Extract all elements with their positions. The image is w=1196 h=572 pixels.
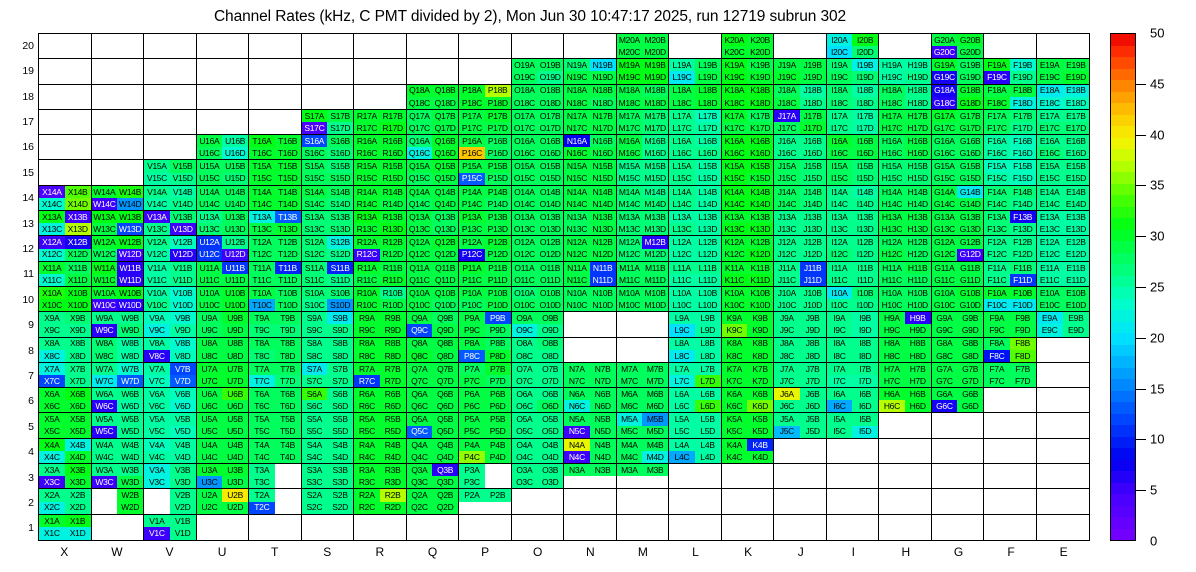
channel-n16a: N16A <box>564 135 590 147</box>
channel-j14a: J14A <box>774 186 800 198</box>
channel-k10c: K10C <box>722 299 748 311</box>
grid-cell-x13: X13AX13BX13CX13D <box>39 211 92 236</box>
channel-p13a: P13A <box>459 211 485 223</box>
channel-u8b: U8B <box>222 338 248 350</box>
grid-cell-j5: J5AJ5BJ5CJ5D <box>774 413 827 438</box>
channel-k7a: K7A <box>722 363 748 375</box>
channel-t13b: T13B <box>275 211 301 223</box>
channel-k20a: K20A <box>722 34 748 46</box>
grid-cell-t11: T11AT11BT11CT11D <box>249 262 302 287</box>
channel-p7d: P7D <box>485 375 511 387</box>
grid-cell-o6: O6AO6BO6CO6D <box>512 388 565 413</box>
channel-j7c: J7C <box>774 375 800 387</box>
grid-cell-k19: K19AK19BK19CK19D <box>722 59 775 84</box>
channel-i5c: I5C <box>827 426 853 438</box>
channel-o18d: O18D <box>537 97 563 109</box>
channel-p3a: P3A <box>459 464 485 476</box>
channel-r4c: R4C <box>354 451 380 463</box>
channel-p10a: P10A <box>459 287 485 299</box>
channel-rate-map-canvas: Channel Rates (kHz, C PMT divided by 2),… <box>0 0 1196 572</box>
x-axis-tick-t: T <box>248 545 301 565</box>
channel-h17b: H17B <box>905 110 931 122</box>
channel-v11b: V11B <box>170 262 196 274</box>
channel-f19b: F19B <box>1010 59 1036 71</box>
channel-k14c: K14C <box>722 198 748 210</box>
channel-g6b: G6B <box>957 388 983 400</box>
grid-cell-k20: K20AK20BK20CK20D <box>722 34 775 59</box>
x-axis-tick-x: X <box>38 545 91 565</box>
channel-l9c: L9C <box>669 324 695 336</box>
channel-r16b: R16B <box>380 135 406 147</box>
channel-m5a: M5A <box>617 413 643 425</box>
channel-x6b: X6B <box>65 388 91 400</box>
grid-cell-f4 <box>984 439 1037 464</box>
channel-w10c: W10C <box>92 299 118 311</box>
grid-cell-n6: N6AN6BN6CN6D <box>564 388 617 413</box>
channel-r5d: R5D <box>380 426 406 438</box>
grid-cell-e6 <box>1037 388 1090 413</box>
channel-u10c: U10C <box>197 299 223 311</box>
channel-x14c: X14C <box>39 198 65 210</box>
channel-l14b: L14B <box>695 186 721 198</box>
grid-cell-f19: F19AF19BF19CF19D <box>984 59 1037 84</box>
channel-g18a: G18A <box>932 85 958 97</box>
channel-p16d: P16D <box>485 147 511 159</box>
grid-cell-t1 <box>249 515 302 540</box>
grid-cell-w13: W13AW13BW13CW13D <box>92 211 145 236</box>
grid-cell-q9: Q9AQ9BQ9CQ9D <box>407 312 460 337</box>
channel-s2d: S2D <box>327 502 353 514</box>
channel-v4b: V4B <box>170 439 196 451</box>
channel-e13d: E13D <box>1063 223 1089 235</box>
channel-t11d: T11D <box>275 274 301 286</box>
channel-x8c: X8C <box>39 350 65 362</box>
channel-x5d: X5D <box>65 426 91 438</box>
channel-h10d: H10D <box>905 299 931 311</box>
channel-o12d: O12D <box>537 249 563 261</box>
grid-cell-o16: O16AO16BO16CO16D <box>512 135 565 160</box>
channel-m7d: M7D <box>642 375 668 387</box>
channel-w9b: W9B <box>117 312 143 324</box>
grid-cell-o4: O4AO4BO4CO4D <box>512 439 565 464</box>
channel-m16a: M16A <box>617 135 643 147</box>
channel-h8d: H8D <box>905 350 931 362</box>
channel-n16c: N16C <box>564 147 590 159</box>
channel-r4a: R4A <box>354 439 380 451</box>
channel-g18c: G18C <box>932 97 958 109</box>
grid-cell-q16: Q16AQ16BQ16CQ16D <box>407 135 460 160</box>
channel-r14b: R14B <box>380 186 406 198</box>
channel-i19c: I19C <box>827 71 853 83</box>
grid-cell-j16: J16AJ16BJ16CJ16D <box>774 135 827 160</box>
channel-i14c: I14C <box>827 198 853 210</box>
channel-v5c: V5C <box>144 426 170 438</box>
channel-i16c: I16C <box>827 147 853 159</box>
channel-i10d: I10D <box>852 299 878 311</box>
channel-p12b: P12B <box>485 236 511 248</box>
channel-s3a: S3A <box>302 464 328 476</box>
channel-p14d: P14D <box>485 198 511 210</box>
channel-w13c: W13C <box>92 223 118 235</box>
channel-p15c: P15C <box>459 173 485 185</box>
channel-g8d: G8D <box>957 350 983 362</box>
grid-cell-e3 <box>1037 464 1090 489</box>
channel-s14b: S14B <box>327 186 353 198</box>
channel-q11b: Q11B <box>432 262 458 274</box>
grid-cell-l3 <box>669 464 722 489</box>
grid-cell-h12: H12AH12BH12CH12D <box>879 236 932 261</box>
grid-cell-i3 <box>827 464 880 489</box>
channel-s11a: S11A <box>302 262 328 274</box>
channel-r4d: R4D <box>380 451 406 463</box>
grid-cell-v20 <box>144 34 197 59</box>
grid-cell-g3 <box>932 464 985 489</box>
channel-j16c: J16C <box>774 147 800 159</box>
channel-h9a: H9A <box>879 312 905 324</box>
channel-l12a: L12A <box>669 236 695 248</box>
channel-i12d: I12D <box>852 249 878 261</box>
channel-f18a: F18A <box>984 85 1010 97</box>
channel-v12b: V12B <box>170 236 196 248</box>
channel-j11b: J11B <box>800 262 826 274</box>
channel-e16b: E16B <box>1063 135 1089 147</box>
channel-v10d: V10D <box>170 299 196 311</box>
grid-cell-x17 <box>39 110 92 135</box>
channel-v13d: V13D <box>170 223 196 235</box>
channel-t9d: T9D <box>275 324 301 336</box>
channel-q12d: Q12D <box>432 249 458 261</box>
grid-cell-f9: F9AF9BF9CF9D <box>984 312 1037 337</box>
channel-m11b: M11B <box>642 262 668 274</box>
channel-t5d: T5D <box>275 426 301 438</box>
channel-j5c: J5C <box>774 426 800 438</box>
channel-u9a: U9A <box>197 312 223 324</box>
channel-q15d: Q15D <box>432 173 458 185</box>
channel-s9a: S9A <box>302 312 328 324</box>
grid-cell-r3: R3AR3BR3CR3D <box>354 464 407 489</box>
grid-cell-i7: I7AI7BI7CI7D <box>827 363 880 388</box>
channel-m7b: M7B <box>642 363 668 375</box>
channel-h6a: H6A <box>879 388 905 400</box>
channel-f12d: F12D <box>1010 249 1036 261</box>
channel-h8c: H8C <box>879 350 905 362</box>
channel-m10d: M10D <box>642 299 668 311</box>
channel-r7b: R7B <box>380 363 406 375</box>
channel-j13b: J13B <box>800 211 826 223</box>
grid-cell-w4: W4AW4BW4CW4D <box>92 439 145 464</box>
channel-v10b: V10B <box>170 287 196 299</box>
channel-m5d: M5D <box>642 426 668 438</box>
channel-p4d: P4D <box>485 451 511 463</box>
channel-i7d: I7D <box>852 375 878 387</box>
channel-j12a: J12A <box>774 236 800 248</box>
channel-w4b: W4B <box>117 439 143 451</box>
grid-cell-k7: K7AK7BK7CK7D <box>722 363 775 388</box>
channel-i6c: I6C <box>827 400 853 412</box>
channel-w2d: W2D <box>117 502 143 514</box>
grid-cell-p12: P12AP12BP12CP12D <box>459 236 512 261</box>
channel-o3a: O3A <box>512 464 538 476</box>
channel-x8a: X8A <box>39 338 65 350</box>
grid-cell-o20 <box>512 34 565 59</box>
grid-cell-s4: S4AS4BS4CS4D <box>302 439 355 464</box>
channel-r10d: R10D <box>380 299 406 311</box>
grid-cell-x5: X5AX5BX5CX5D <box>39 413 92 438</box>
channel-f17b: F17B <box>1010 110 1036 122</box>
channel-k11d: K11D <box>747 274 773 286</box>
y-axis-tick-3: 3 <box>8 472 34 484</box>
channel-q10c: Q10C <box>407 299 433 311</box>
channel-v13c: V13C <box>144 223 170 235</box>
channel-j10c: J10C <box>774 299 800 311</box>
channel-r13d: R13D <box>380 223 406 235</box>
channel-l15d: L15D <box>695 173 721 185</box>
channel-e9c: E9C <box>1037 324 1063 336</box>
channel-t10c: T10C <box>249 299 275 311</box>
channel-g14d: G14D <box>957 198 983 210</box>
channel-s12a: S12A <box>302 236 328 248</box>
channel-e12c: E12C <box>1037 249 1063 261</box>
channel-f11a: F11A <box>984 262 1010 274</box>
y-axis-tick-6: 6 <box>8 395 34 407</box>
channel-w9d: W9D <box>117 324 143 336</box>
grid-cell-l11: L11AL11BL11CL11D <box>669 262 722 287</box>
grid-cell-w7: W7AW7BW7CW7D <box>92 363 145 388</box>
channel-s11b: S11B <box>327 262 353 274</box>
grid-cell-m18: M18AM18BM18CM18D <box>617 85 670 110</box>
channel-u8c: U8C <box>197 350 223 362</box>
grid-cell-p15: P15AP15BP15CP15D <box>459 160 512 185</box>
channel-t13d: T13D <box>275 223 301 235</box>
grid-cell-v8: V8AV8BV8CV8D <box>144 338 197 363</box>
grid-cell-i18: I18AI18BI18CI18D <box>827 85 880 110</box>
channel-o9c: O9C <box>512 324 538 336</box>
grid-cell-l12: L12AL12BL12CL12D <box>669 236 722 261</box>
palette-tick-label-35: 35 <box>1150 178 1164 193</box>
channel-q8b: Q8B <box>432 338 458 350</box>
grid-cell-f8: F8AF8BF8CF8D <box>984 338 1037 363</box>
x-axis-tick-m: M <box>617 545 670 565</box>
grid-cell-v17 <box>144 110 197 135</box>
grid-cell-h15: H15AH15BH15CH15D <box>879 160 932 185</box>
channel-x8d: X8D <box>65 350 91 362</box>
channel-w4d: W4D <box>117 451 143 463</box>
grid-cell-t2: T2AT2C <box>249 489 302 514</box>
grid-cell-o3: O3AO3BO3CO3D <box>512 464 565 489</box>
channel-e19d: E19D <box>1063 71 1089 83</box>
channel-q16d: Q16D <box>432 147 458 159</box>
grid-cell-s20 <box>302 34 355 59</box>
channel-t15c: T15C <box>249 173 275 185</box>
grid-cell-r17: R17AR17BR17CR17D <box>354 110 407 135</box>
channel-h16b: H16B <box>905 135 931 147</box>
channel-p5d: P5D <box>485 426 511 438</box>
channel-s17a: S17A <box>302 110 328 122</box>
grid-cell-i2 <box>827 489 880 514</box>
channel-m16d: M16D <box>642 147 668 159</box>
channel-j13c: J13C <box>774 223 800 235</box>
channel-h11d: H11D <box>905 274 931 286</box>
channel-m16c: M16C <box>617 147 643 159</box>
channel-s7a: S7A <box>302 363 328 375</box>
grid-cell-x7: X7AX7BX7CX7D <box>39 363 92 388</box>
channel-q9a: Q9A <box>407 312 433 324</box>
channel-e17d: E17D <box>1063 122 1089 134</box>
grid-cell-x10: X10AX10BX10CX10D <box>39 287 92 312</box>
grid-cell-h11: H11AH11BH11CH11D <box>879 262 932 287</box>
channel-x14d: X14D <box>65 198 91 210</box>
channel-t9b: T9B <box>275 312 301 324</box>
channel-g8a: G8A <box>932 338 958 350</box>
grid-cell-w2: W2BW2D <box>92 489 145 514</box>
grid-cell-f7: F7AF7BF7CF7D <box>984 363 1037 388</box>
channel-p11a: P11A <box>459 262 485 274</box>
channel-v15c: V15C <box>144 173 170 185</box>
channel-v9a: V9A <box>144 312 170 324</box>
channel-u4d: U4D <box>222 451 248 463</box>
grid-cell-n15: N15AN15BN15CN15D <box>564 160 617 185</box>
grid-cell-u4: U4AU4BU4CU4D <box>197 439 250 464</box>
channel-x9d: X9D <box>65 324 91 336</box>
grid-cell-k8: K8AK8BK8CK8D <box>722 338 775 363</box>
channel-h19c: H19C <box>879 71 905 83</box>
grid-cell-q11: Q11AQ11BQ11CQ11D <box>407 262 460 287</box>
grid-cell-e2 <box>1037 489 1090 514</box>
page-title: Channel Rates (kHz, C PMT divided by 2),… <box>0 8 1060 26</box>
channel-g19b: G19B <box>957 59 983 71</box>
channel-p6d: P6D <box>485 400 511 412</box>
grid-cell-p8: P8AP8BP8CP8D <box>459 338 512 363</box>
grid-cell-o15: O15AO15BO15CO15D <box>512 160 565 185</box>
grid-cell-l13: L13AL13BL13CL13D <box>669 211 722 236</box>
channel-w7d: W7D <box>117 375 143 387</box>
channel-t6b: T6B <box>275 388 301 400</box>
grid-cell-t13: T13AT13BT13CT13D <box>249 211 302 236</box>
grid-cell-h3 <box>879 464 932 489</box>
channel-o3c: O3C <box>512 476 538 488</box>
channel-i10a: I10A <box>827 287 853 299</box>
grid-cell-h17: H17AH17BH17CH17D <box>879 110 932 135</box>
grid-cell-j14: J14AJ14BJ14CJ14D <box>774 186 827 211</box>
channel-l5a: L5A <box>669 413 695 425</box>
channel-m19d: M19D <box>642 71 668 83</box>
channel-f14b: F14B <box>1010 186 1036 198</box>
channel-r7a: R7A <box>354 363 380 375</box>
channel-p8c: P8C <box>459 350 485 362</box>
channel-r8a: R8A <box>354 338 380 350</box>
channel-o15d: O15D <box>537 173 563 185</box>
grid-cell-p19 <box>459 59 512 84</box>
grid-cell-s7: S7AS7BS7CS7D <box>302 363 355 388</box>
grid-cell-x15 <box>39 160 92 185</box>
grid-cell-u7: U7AU7BU7CU7D <box>197 363 250 388</box>
grid-cell-x9: X9AX9BX9CX9D <box>39 312 92 337</box>
channel-l4c: L4C <box>669 451 695 463</box>
channel-n5c: N5C <box>564 426 590 438</box>
grid-cell-w18 <box>92 85 145 110</box>
channel-h7d: H7D <box>905 375 931 387</box>
channel-l5c: L5C <box>669 426 695 438</box>
channel-n7c: N7C <box>564 375 590 387</box>
channel-r8d: R8D <box>380 350 406 362</box>
channel-w13b: W13B <box>117 211 143 223</box>
channel-e13a: E13A <box>1037 211 1063 223</box>
channel-j12c: J12C <box>774 249 800 261</box>
channel-f15d: F15D <box>1010 173 1036 185</box>
grid-cell-p9: P9AP9BP9CP9D <box>459 312 512 337</box>
channel-t7a: T7A <box>249 363 275 375</box>
grid-cell-e5 <box>1037 413 1090 438</box>
grid-cell-m10: M10AM10BM10CM10D <box>617 287 670 312</box>
grid-cell-l8: L8AL8BL8CL8D <box>669 338 722 363</box>
channel-p2b: P2B <box>485 489 511 501</box>
channel-q17c: Q17C <box>407 122 433 134</box>
grid-cell-o5: O5AO5BO5CO5D <box>512 413 565 438</box>
grid-cell-t9: T9AT9BT9CT9D <box>249 312 302 337</box>
channel-f8b: F8B <box>1010 338 1036 350</box>
channel-l12d: L12D <box>695 249 721 261</box>
channel-v13a: V13A <box>144 211 170 223</box>
channel-f15a: F15A <box>984 160 1010 172</box>
channel-i7a: I7A <box>827 363 853 375</box>
channel-i6b: I6B <box>852 388 878 400</box>
channel-e13b: E13B <box>1063 211 1089 223</box>
channel-x3d: X3D <box>65 476 91 488</box>
grid-cell-u12: U12AU12BU12CU12D <box>197 236 250 261</box>
channel-i16b: I16B <box>852 135 878 147</box>
channel-k4b: K4B <box>747 439 773 451</box>
channel-g9a: G9A <box>932 312 958 324</box>
channel-s6d: S6D <box>327 400 353 412</box>
channel-n14a: N14A <box>564 186 590 198</box>
channel-h6d: H6D <box>905 400 931 412</box>
channel-h11c: H11C <box>879 274 905 286</box>
channel-l10b: L10B <box>695 287 721 299</box>
grid-cell-m5: M5AM5BM5CM5D <box>617 413 670 438</box>
channel-w12d: W12D <box>117 249 143 261</box>
grid-cell-h10: H10AH10BH10CH10D <box>879 287 932 312</box>
channel-p9c: P9C <box>459 324 485 336</box>
grid-cell-s8: S8AS8BS8CS8D <box>302 338 355 363</box>
grid-cell-m17: M17AM17BM17CM17D <box>617 110 670 135</box>
channel-k16c: K16C <box>722 147 748 159</box>
y-axis-tick-10: 10 <box>8 294 34 306</box>
channel-o13d: O13D <box>537 223 563 235</box>
grid-cell-e15: E15AE15BE15CE15D <box>1037 160 1090 185</box>
channel-v1d: V1D <box>170 527 196 540</box>
channel-i15a: I15A <box>827 160 853 172</box>
channel-n12d: N12D <box>590 249 616 261</box>
channel-k9c: K9C <box>722 324 748 336</box>
channel-f10d: F10D <box>1010 299 1036 311</box>
channel-v6c: V6C <box>144 400 170 412</box>
channel-q11d: Q11D <box>432 274 458 286</box>
channel-m10a: M10A <box>617 287 643 299</box>
channel-u5a: U5A <box>197 413 223 425</box>
channel-f17c: F17C <box>984 122 1010 134</box>
channel-s4c: S4C <box>302 451 328 463</box>
channel-g11d: G11D <box>957 274 983 286</box>
channel-m15a: M15A <box>617 160 643 172</box>
channel-q4d: Q4D <box>432 451 458 463</box>
grid-cell-i6: I6AI6BI6CI6D <box>827 388 880 413</box>
channel-x11a: X11A <box>39 262 65 274</box>
channel-x7d: X7D <box>65 375 91 387</box>
channel-s17b: S17B <box>327 110 353 122</box>
channel-o13c: O13C <box>512 223 538 235</box>
channel-k17b: K17B <box>747 110 773 122</box>
channel-g6d: G6D <box>957 400 983 412</box>
